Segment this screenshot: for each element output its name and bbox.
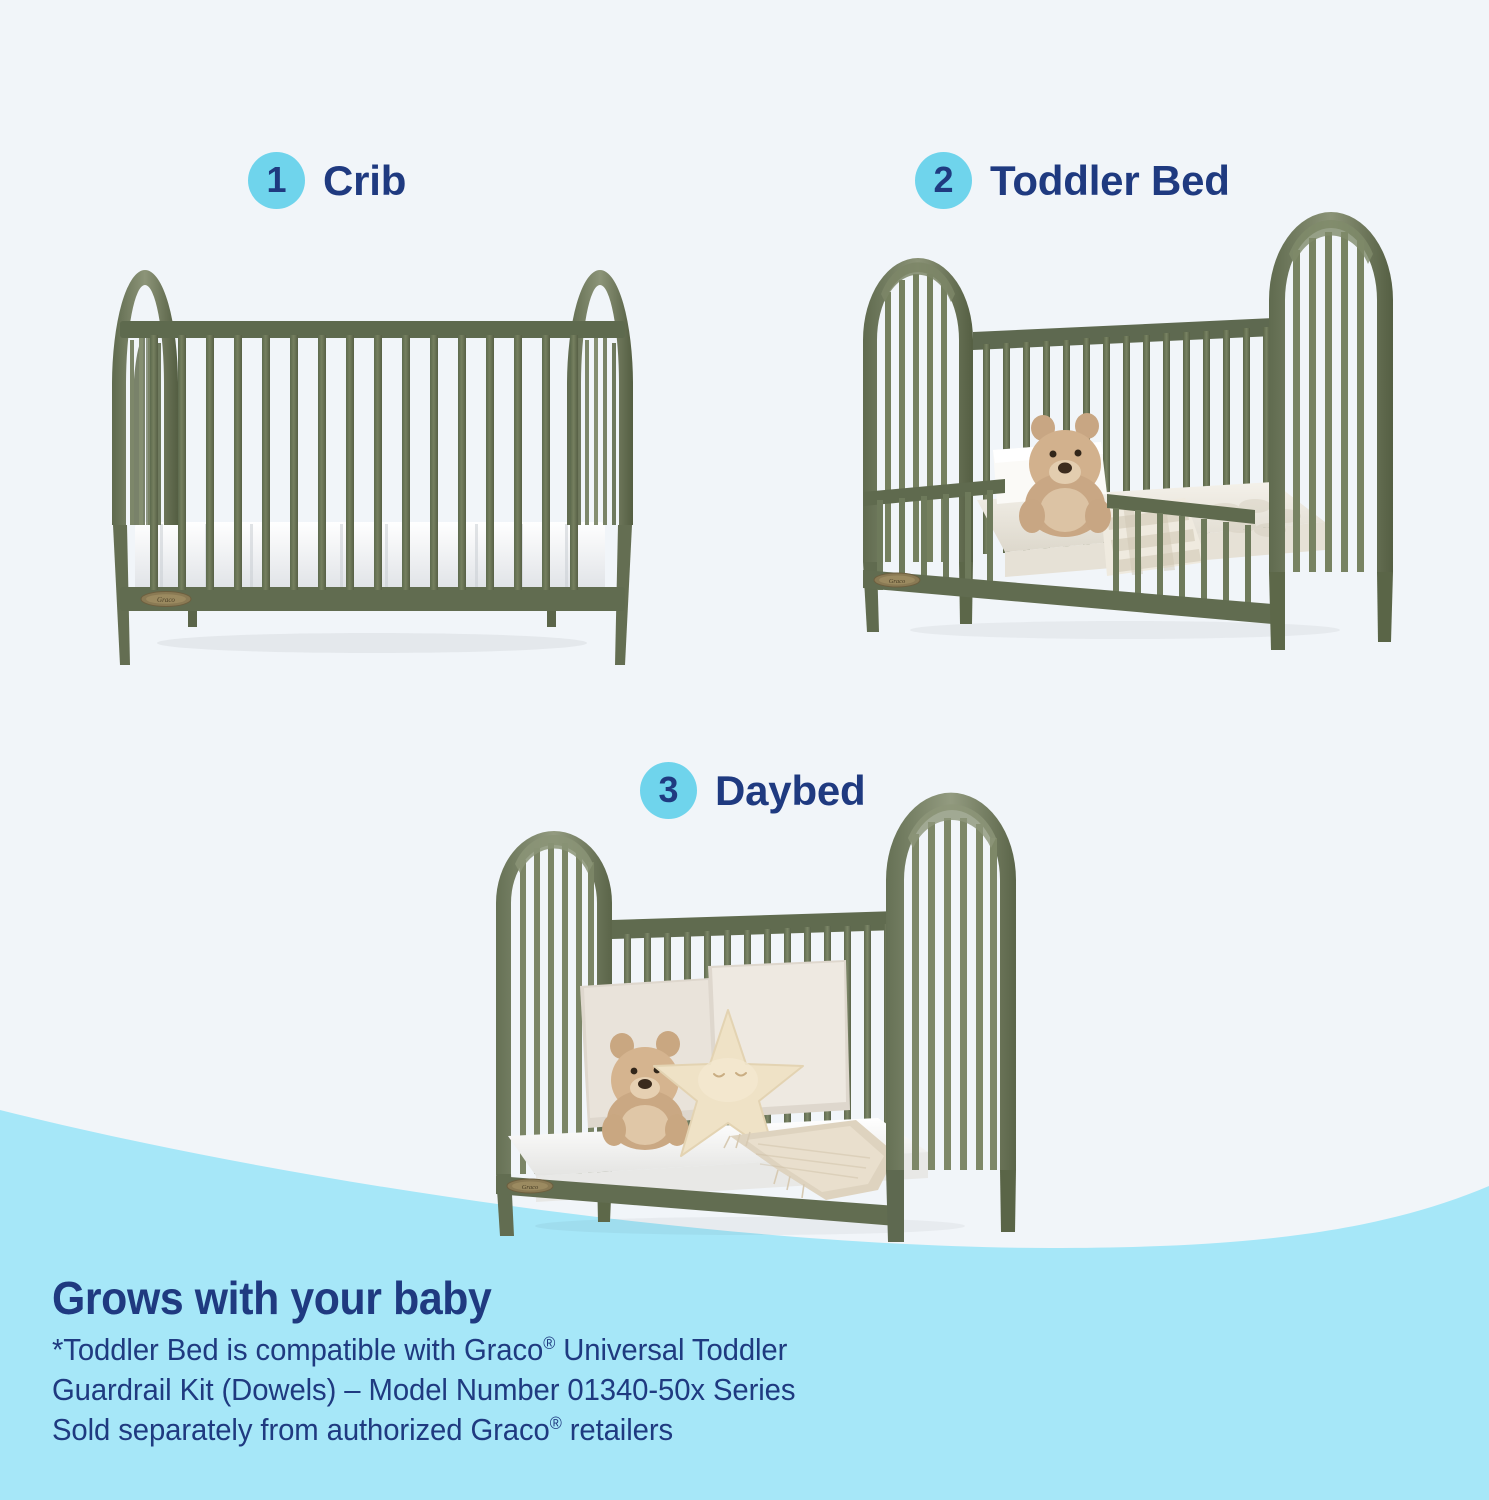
step-number-2: 2 <box>933 162 953 198</box>
daybed-illustration: Graco <box>478 818 1023 1248</box>
banner-line-1-prefix: *Toddler Bed is compatible with Graco <box>52 1333 543 1367</box>
banner-line-2: Guardrail Kit (Dowels) – Model Number 01… <box>52 1370 1300 1410</box>
svg-text:Graco: Graco <box>889 578 906 585</box>
step-number-badge-3: 3 <box>640 762 697 819</box>
step-label-toddler-bed: Toddler Bed <box>990 160 1230 202</box>
step-number-1: 1 <box>266 162 286 198</box>
crib-front-illustration: Graco <box>100 225 645 680</box>
banner-line-3-suffix: retailers <box>562 1413 673 1447</box>
banner-title: Grows with your baby <box>52 1272 1261 1324</box>
teddy-bear <box>602 1031 689 1150</box>
registered-mark-2: ® <box>550 1414 562 1433</box>
daybed-image: Graco <box>478 818 1023 1248</box>
graco-logo-plate: Graco <box>141 592 191 607</box>
step-header-toddler-bed: 2 Toddler Bed <box>915 152 1230 209</box>
step-header-crib: 1 Crib <box>248 152 406 209</box>
banner-line-1: *Toddler Bed is compatible with Graco® U… <box>52 1330 1300 1370</box>
step-number-badge-2: 2 <box>915 152 972 209</box>
banner-line-3-prefix: Sold separately from authorized Graco <box>52 1413 550 1447</box>
step-number-badge-1: 1 <box>248 152 305 209</box>
graco-logo-plate: Graco <box>874 573 920 587</box>
step-number-3: 3 <box>658 772 678 808</box>
toddler-right-arch-panel <box>1269 212 1393 650</box>
step-header-daybed: 3 Daybed <box>640 762 866 819</box>
banner-line-3: Sold separately from authorized Graco® r… <box>52 1410 1300 1450</box>
step-label-daybed: Daybed <box>715 770 866 812</box>
crib-front-image: Graco <box>100 225 645 680</box>
teddy-bear <box>1019 413 1111 537</box>
toddler-bed-illustration: Graco <box>855 232 1390 662</box>
registered-mark-1: ® <box>543 1334 555 1353</box>
svg-text:Graco: Graco <box>157 596 175 604</box>
graco-logo-plate: Graco <box>507 1179 553 1193</box>
toddler-front-rail <box>863 570 1273 624</box>
svg-text:Graco: Graco <box>522 1184 539 1191</box>
banner-line-1-suffix: Universal Toddler <box>555 1333 787 1367</box>
step-label-crib: Crib <box>323 160 406 202</box>
toddler-bed-image: Graco <box>855 232 1390 662</box>
banner-copy: Grows with your baby *Toddler Bed is com… <box>52 1272 1352 1450</box>
crib-bottom-rail <box>120 587 625 611</box>
